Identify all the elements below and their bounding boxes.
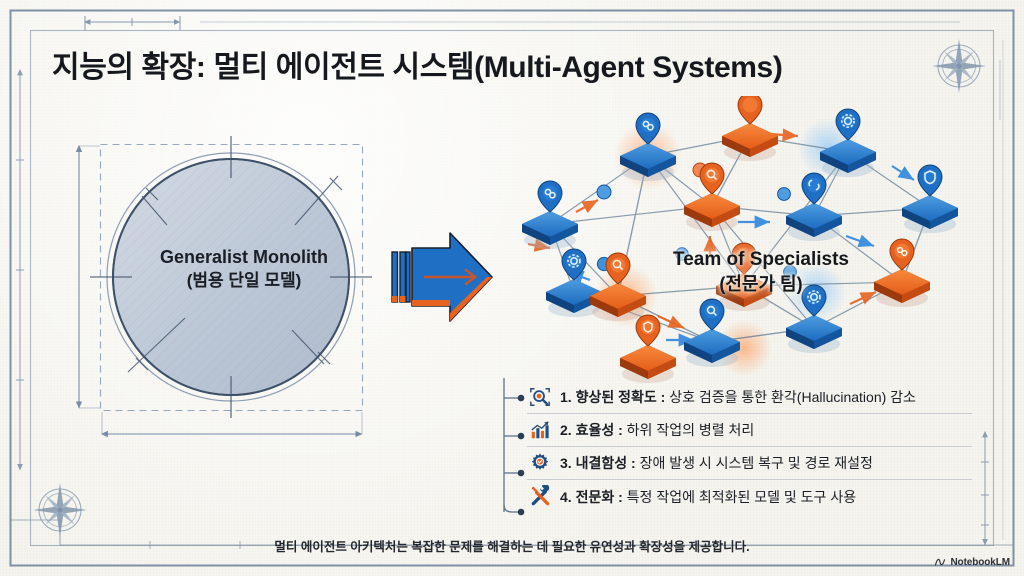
transformation-arrow-icon (392, 233, 492, 321)
team-label-en: Team of Specialists (636, 248, 886, 273)
agent-node (522, 181, 578, 249)
benefit-sep: : (618, 422, 623, 438)
monolith-label-en: Generalist Monolith (108, 246, 380, 270)
list-item: 2. 효율성 : 하위 작업의 병렬 처리 (527, 414, 972, 447)
benefit-term: 내결함성 (576, 455, 628, 471)
benefit-num: 4. (560, 489, 572, 505)
agent-node (546, 249, 602, 317)
benefit-num: 2. (560, 422, 572, 438)
benefit-sep: : (618, 489, 623, 505)
benefit-term: 효율성 (576, 422, 615, 438)
search-accuracy-icon (527, 385, 553, 409)
bullet-connector-lines (504, 378, 518, 512)
benefit-num: 3. (560, 455, 572, 471)
benefit-num: 1. (560, 389, 572, 405)
agent-node (786, 173, 842, 241)
agent-network-diagram (498, 96, 978, 396)
benefit-detail: 장애 발생 시 시스템 복구 및 경로 재설정 (640, 455, 873, 471)
slide-caption: 멀티 에이전트 아키텍처는 복잡한 문제를 해결하는 데 필요한 유연성과 확장… (0, 536, 1024, 555)
gear-icon (527, 451, 553, 475)
compass-rose-icon (932, 39, 986, 93)
slide-canvas: 지능의 확장: 멀티 에이전트 시스템(Multi-Agent Systems)… (0, 0, 1024, 576)
benefits-list: 1. 향상된 정확도 : 상호 검증을 통한 환각(Hallucination)… (527, 381, 972, 513)
benefit-detail: 특정 작업에 최적화된 모델 및 도구 사용 (627, 489, 856, 505)
team-label-ko: (전문가 팀) (636, 273, 886, 296)
list-item: 1. 향상된 정확도 : 상호 검증을 통한 환각(Hallucination)… (527, 381, 972, 414)
page-title: 지능의 확장: 멀티 에이전트 시스템(Multi-Agent Systems) (52, 42, 782, 86)
agent-node (684, 163, 740, 231)
list-item: 3. 내결함성 : 장애 발생 시 시스템 복구 및 경로 재설정 (527, 447, 972, 480)
benefit-detail: 상호 검증을 통한 환각(Hallucination) 감소 (669, 389, 916, 405)
team-label: Team of Specialists (전문가 팀) (636, 248, 886, 296)
benefit-sep: : (661, 389, 666, 405)
benefit-term: 향상된 정확도 (576, 389, 657, 405)
compass-rose-icon (33, 483, 87, 537)
monolith-label: Generalist Monolith (범용 단일 모델) (108, 246, 380, 292)
list-item: 4. 전문화 : 특정 작업에 최적화된 모델 및 도구 사용 (527, 480, 972, 513)
monolith-label-ko: (범용 단일 모델) (108, 270, 380, 292)
benefit-detail: 하위 작업의 병렬 처리 (627, 422, 755, 438)
notebooklm-label: NotebookLM (950, 557, 1010, 568)
bar-chart-up-icon (527, 418, 553, 442)
agent-node (722, 96, 778, 161)
notebooklm-logo-icon (934, 556, 946, 568)
benefit-term: 전문화 (576, 489, 615, 505)
agent-node (902, 165, 958, 233)
benefit-sep: : (631, 455, 636, 471)
notebooklm-brand: NotebookLM (934, 556, 1010, 568)
tools-icon (527, 485, 553, 509)
